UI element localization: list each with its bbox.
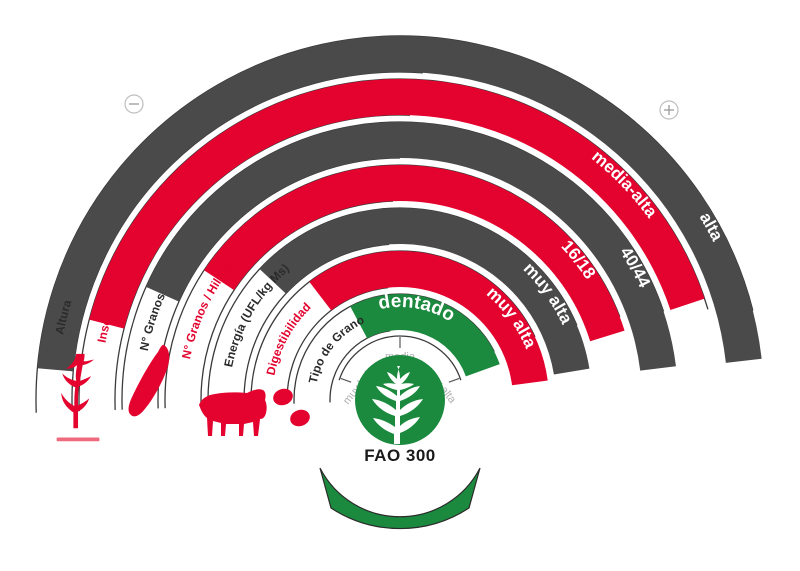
- scale-tick-mark-2: [449, 378, 459, 382]
- corn-cob-icon: [129, 345, 170, 417]
- grain-kernels-icon: [271, 386, 312, 428]
- fao-label: FAO 300: [364, 446, 436, 465]
- cow-icon: [199, 389, 267, 436]
- infographic-root: dentadomuy altamuy alta16/1840/44media-a…: [0, 0, 800, 571]
- radial-chart-svg: dentadomuy altamuy alta16/1840/44media-a…: [0, 0, 800, 571]
- minus-icon[interactable]: [125, 95, 143, 113]
- plus-icon[interactable]: [660, 101, 678, 119]
- scale-tick-mark-0: [341, 378, 351, 382]
- center-logo: [355, 355, 445, 445]
- ring-label-n-granos: N° Granos: [137, 291, 168, 352]
- ring-label-tipo-de-grano: Tipo de Grano: [306, 313, 367, 385]
